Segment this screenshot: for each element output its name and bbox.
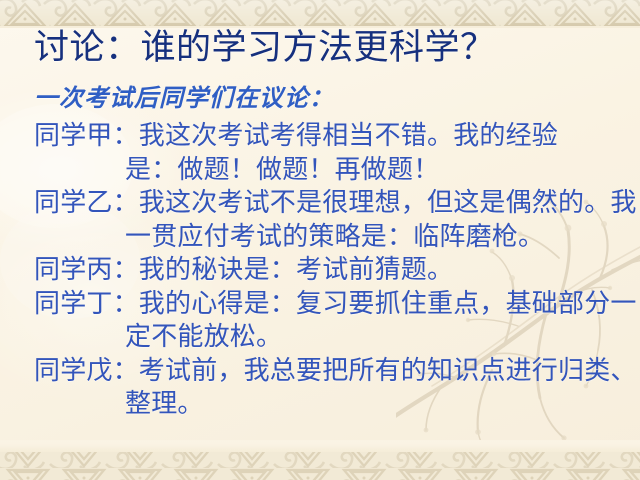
dialogue-line: 是：做题！做题！再做题！: [34, 153, 634, 187]
dialogue-line: 同学乙：我这次考试不是很理想，但这是偶然的。我: [34, 186, 634, 220]
dialogue-line: 定不能放松。: [34, 320, 634, 354]
dialogue-line: 同学丙：我的秘诀是：考试前猜题。: [34, 253, 634, 287]
dialogue-line: 同学甲：我这次考试考得相当不错。我的经验: [34, 119, 634, 153]
dialogue-line: 同学戊：考试前，我总要把所有的知识点进行归类、: [34, 354, 634, 388]
slide-title: 讨论：谁的学习方法更科学？: [34, 26, 496, 70]
dialogue-line: 整理。: [34, 387, 634, 421]
dialogue-list: 同学甲：我这次考试考得相当不错。我的经验 是：做题！做题！再做题！ 同学乙：我这…: [34, 119, 634, 421]
dialogue-line: 一贯应付考试的策略是：临阵磨枪。: [34, 220, 634, 254]
bottom-decorative-border: [0, 440, 640, 480]
slide: 讨论：谁的学习方法更科学？ 一次考试后同学们在议论： 同学甲：我这次考试考得相当…: [0, 0, 640, 480]
top-decorative-border: [0, 0, 640, 28]
slide-subtitle: 一次考试后同学们在议论：: [34, 84, 334, 114]
dialogue-line: 同学丁：我的心得是：复习要抓住重点，基础部分一: [34, 287, 634, 321]
